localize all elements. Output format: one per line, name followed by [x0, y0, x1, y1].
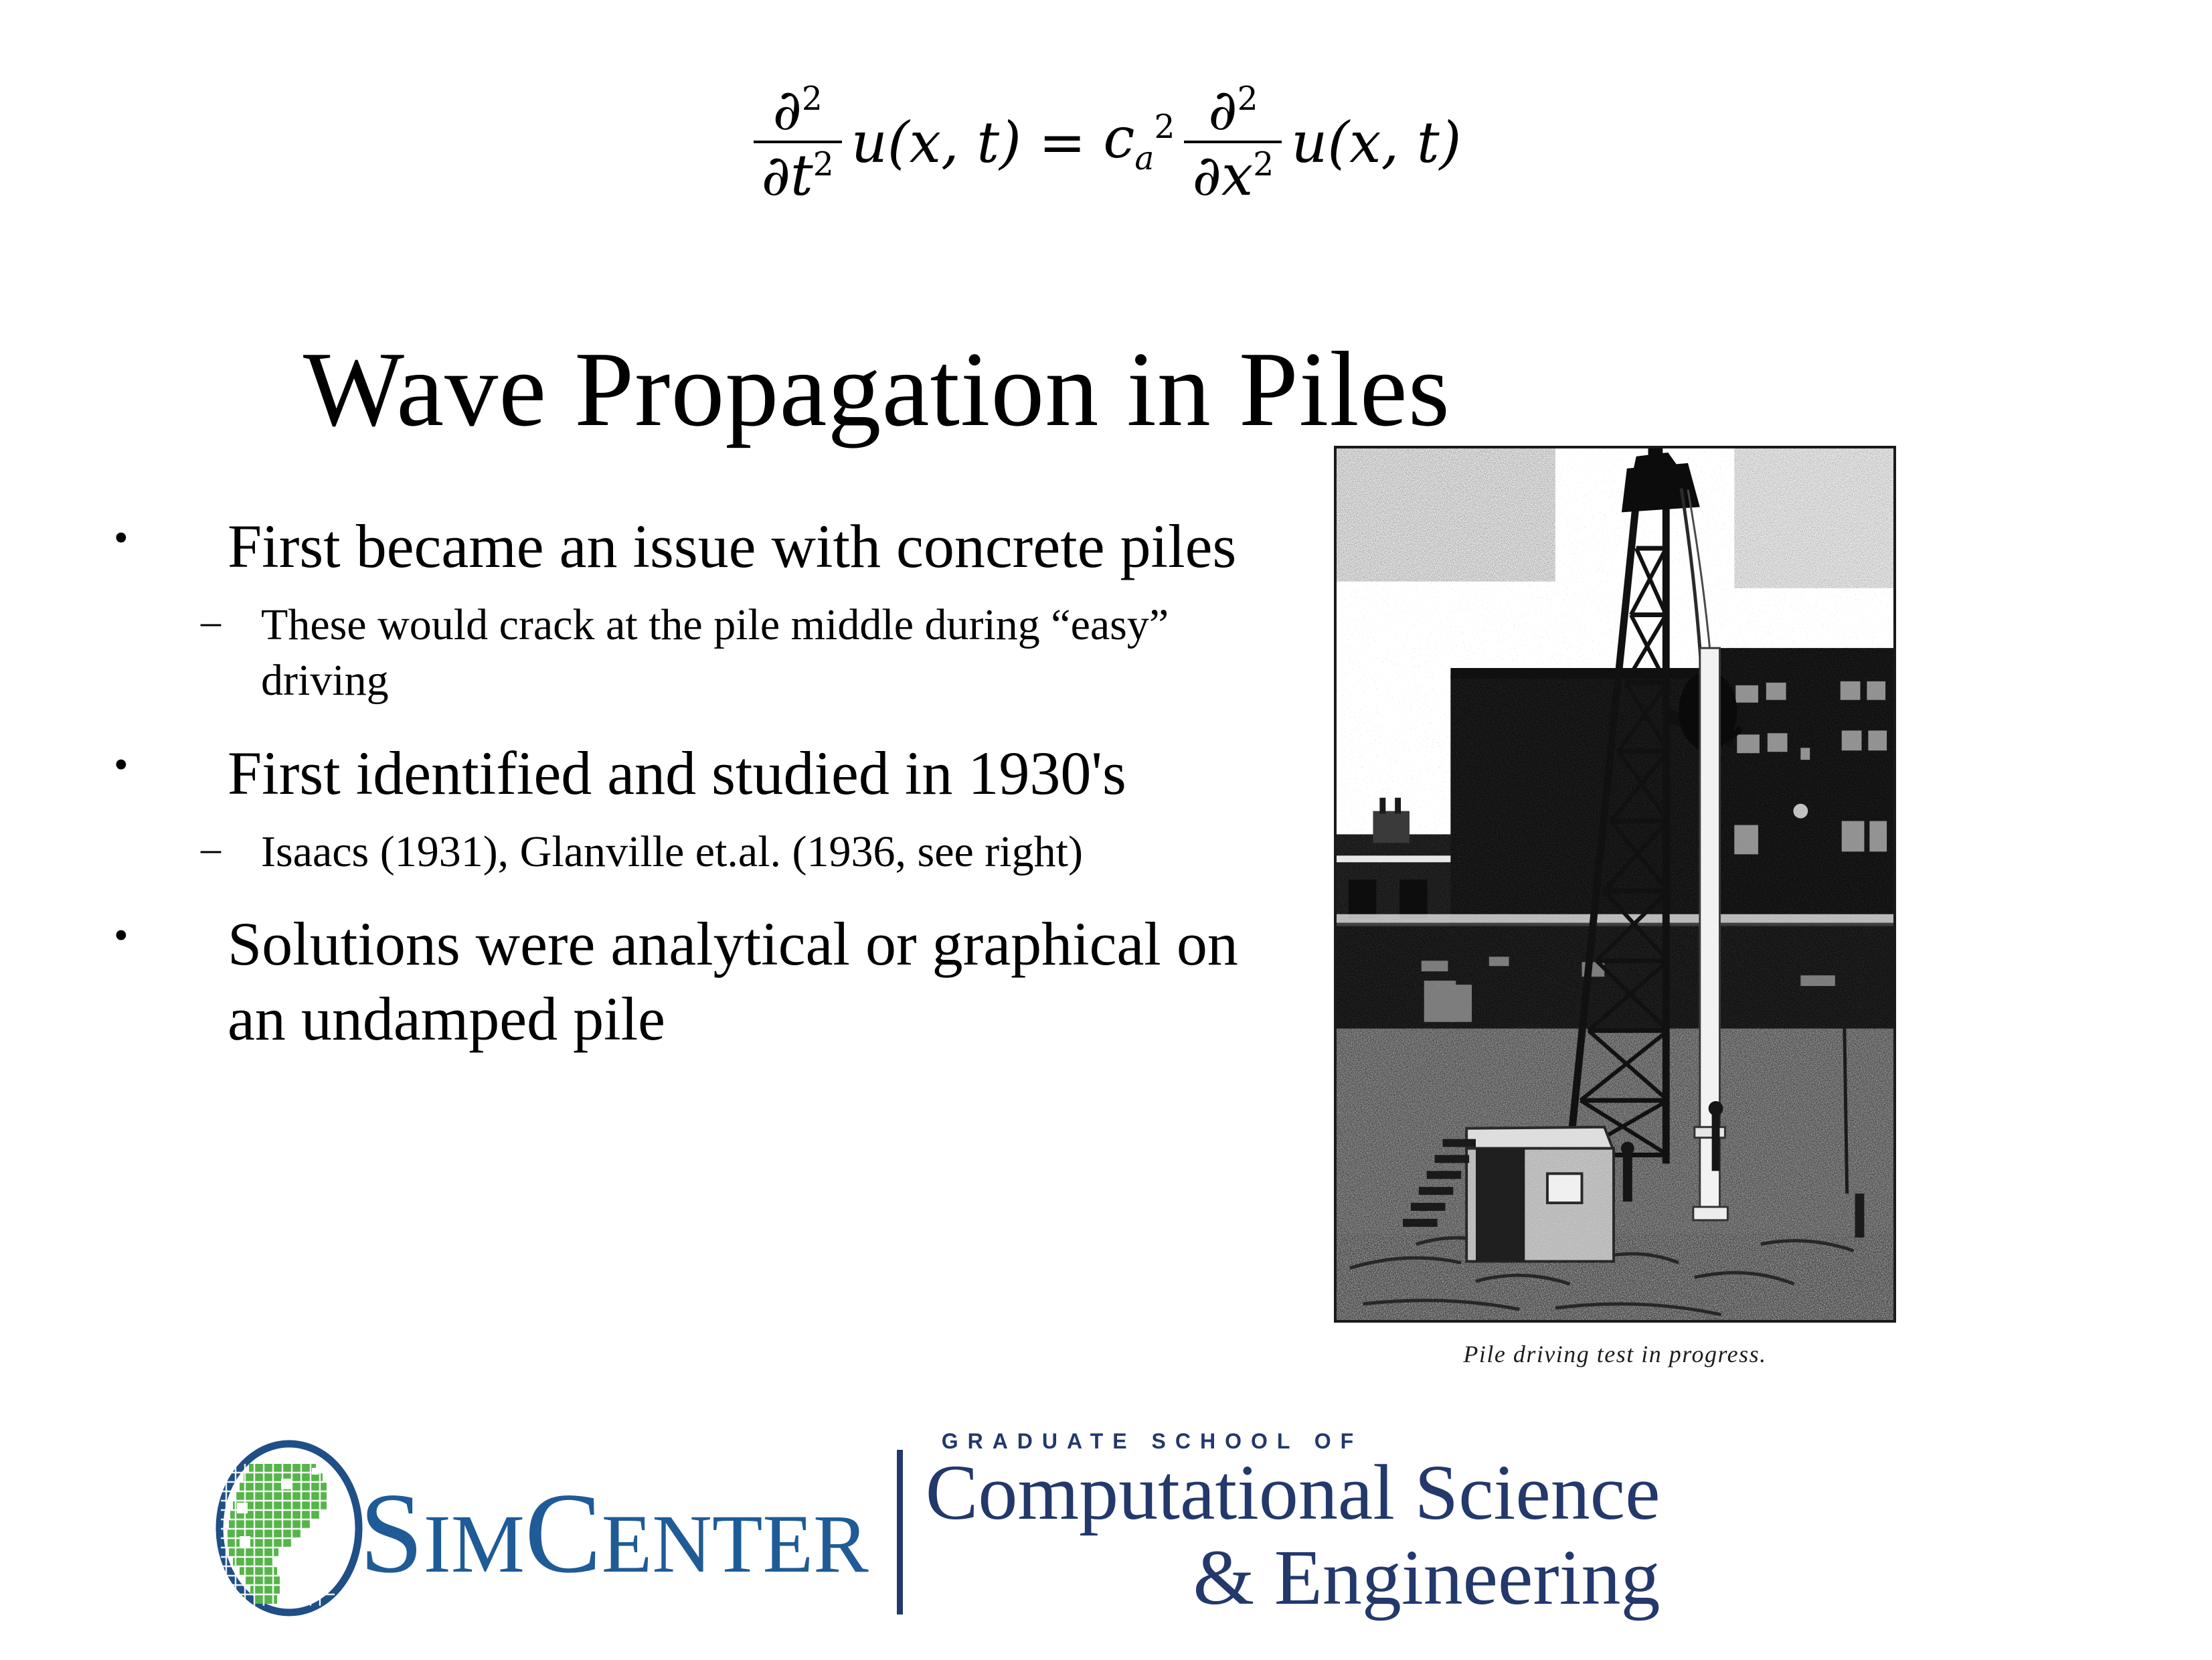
rhs-second-derivative-fraction: ∂2 ∂x2: [1184, 80, 1282, 205]
bullet-text: Solutions were analytical or graphical o…: [228, 906, 1278, 1056]
partial-symbol: ∂: [772, 77, 801, 143]
simcenter-wordmark: SIMCENTER: [359, 1476, 869, 1591]
sub-bullet-item: – These would crack at the pile middle d…: [100, 597, 1278, 708]
lhs-second-derivative-fraction: ∂2 ∂t2: [754, 80, 842, 205]
coefficient-subscript: a: [1134, 140, 1154, 177]
page-title: Wave Propagation in Piles: [0, 333, 1754, 445]
lhs-denominator: ∂t2: [754, 141, 842, 205]
school-line-1: Computational Science: [926, 1453, 1661, 1532]
bullet-text: First became an issue with concrete pile…: [228, 509, 1278, 584]
wave-equation: ∂2 ∂t2 u(x, t) = ca2 ∂2 ∂x2 u(x, t): [0, 80, 2212, 205]
coefficient-symbol: c: [1103, 105, 1134, 171]
rhs-denominator: ∂x2: [1184, 141, 1282, 205]
bullet-item: • First identified and studied in 1930's: [100, 736, 1278, 811]
lhs-numerator-exponent: 2: [802, 80, 823, 118]
bullet-marker: •: [100, 509, 228, 568]
sub-bullet-marker: –: [201, 597, 261, 645]
sub-bullet-text: Isaacs (1931), Glanville et.al. (1936, s…: [261, 824, 1278, 880]
pile-driving-photo: [1334, 446, 1896, 1323]
bullet-group-2: • First identified and studied in 1930's…: [100, 736, 1278, 880]
coefficient-exponent: 2: [1154, 108, 1175, 146]
bullet-list: • First became an issue with concrete pi…: [100, 509, 1278, 1064]
school-name-block: GRADUATE SCHOOL OF Computational Science…: [926, 1430, 1661, 1620]
simcenter-enter: ENTER: [602, 1498, 869, 1590]
rhs-function: u(x, t): [1291, 114, 1461, 171]
bullet-group-1: • First became an issue with concrete pi…: [100, 509, 1278, 709]
bullet-marker: •: [100, 906, 228, 965]
simcenter-im: IM: [424, 1498, 525, 1590]
logo-divider: [897, 1450, 903, 1614]
bullet-marker: •: [100, 736, 228, 795]
simcenter-s: S: [359, 1470, 424, 1597]
lhs-denominator-exponent: 2: [813, 146, 834, 183]
equation-row: ∂2 ∂t2 u(x, t) = ca2 ∂2 ∂x2 u(x, t): [751, 80, 1462, 205]
sub-bullet-text: These would crack at the pile middle dur…: [261, 597, 1278, 708]
rhs-denominator-exponent: 2: [1253, 146, 1274, 183]
bullet-item: • First became an issue with concrete pi…: [100, 509, 1278, 584]
rhs-numerator-exponent: 2: [1238, 80, 1258, 118]
partial-x-symbol: ∂x: [1192, 143, 1253, 208]
lhs-function: u(x, t): [851, 114, 1021, 171]
partial-t-symbol: ∂t: [762, 143, 813, 208]
school-line-2: & Engineering: [926, 1535, 1661, 1620]
lhs-numerator: ∂2: [764, 80, 830, 141]
simcenter-c: C: [525, 1470, 602, 1597]
partial-symbol-rhs: ∂: [1208, 77, 1237, 143]
rhs-numerator: ∂2: [1200, 80, 1266, 141]
bullet-item: • Solutions were analytical or graphical…: [100, 906, 1278, 1056]
figure-caption: Pile driving test in progress.: [1334, 1340, 1896, 1368]
pile-driving-figure: Pile driving test in progress.: [1334, 446, 1896, 1368]
wave-speed-coefficient: ca2: [1103, 110, 1175, 175]
bullet-group-3: • Solutions were analytical or graphical…: [100, 906, 1278, 1056]
bullet-text: First identified and studied in 1930's: [228, 736, 1278, 811]
equals-sign: =: [1039, 114, 1086, 171]
sub-bullet-marker: –: [201, 824, 261, 872]
sub-bullet-item: – Isaacs (1931), Glanville et.al. (1936,…: [100, 824, 1278, 880]
footer-branding: SIMCENTER GRADUATE SCHOOL OF Computation…: [207, 1424, 2135, 1632]
globe-icon: [207, 1440, 371, 1617]
